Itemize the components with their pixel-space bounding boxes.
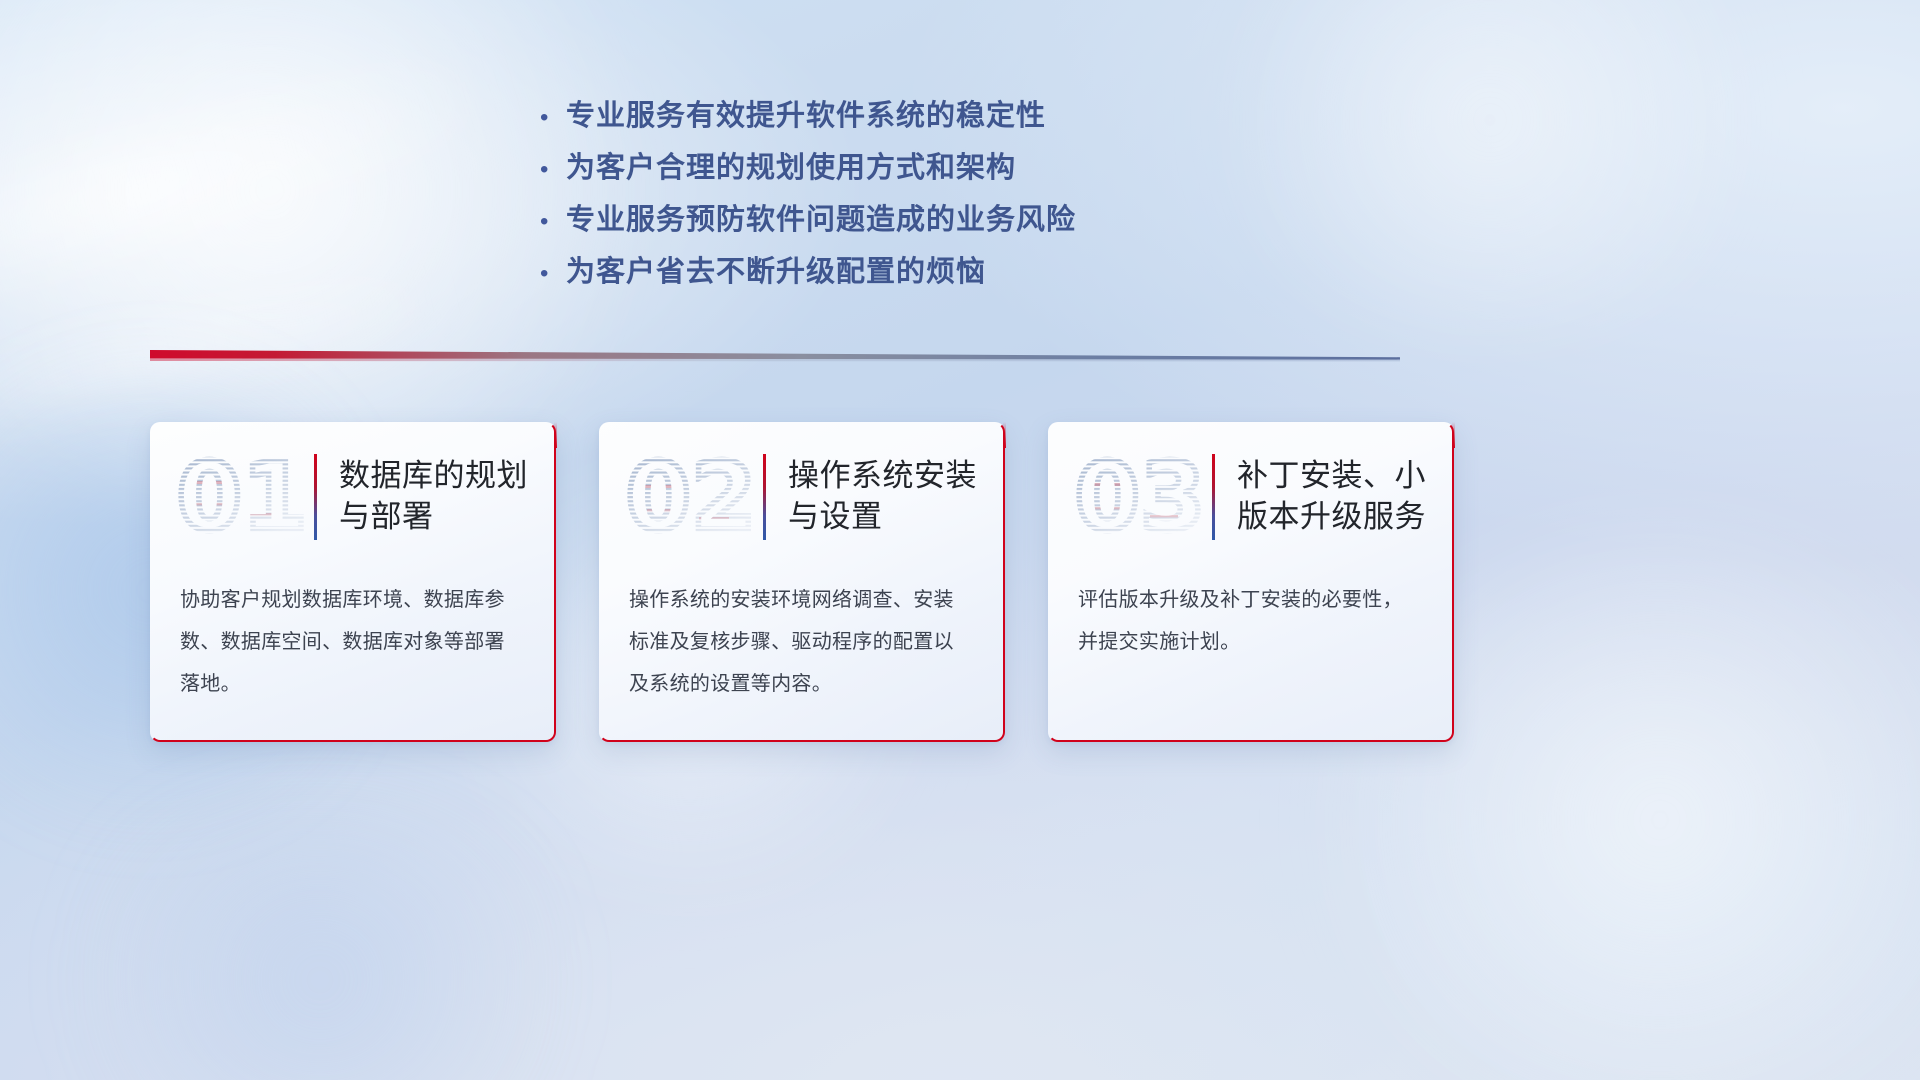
bullet-text: 专业服务预防软件问题造成的业务风险 bbox=[566, 196, 1076, 238]
card-title-line-1: 补丁安装、小 bbox=[1237, 456, 1426, 497]
card-number-watermark: 02 bbox=[627, 451, 755, 547]
card-title-divider bbox=[1212, 454, 1215, 540]
service-card[interactable]: 01 01 bbox=[150, 422, 556, 742]
card-header: 02 操作系统安装 与设置 bbox=[599, 422, 1005, 572]
bullet-marker-icon: • bbox=[540, 210, 566, 234]
card-description: 评估版本升级及补丁安装的必要性，并提交实施计划。 bbox=[1048, 572, 1454, 662]
bullet-marker-icon: • bbox=[540, 106, 566, 130]
background-glow-bottom-left bbox=[40, 820, 600, 1080]
service-card-list: 01 01 bbox=[150, 422, 1456, 742]
service-card[interactable]: 03 补丁安装、小 版本升级服务 bbox=[1048, 422, 1454, 742]
card-title-line-2: 版本升级服务 bbox=[1237, 497, 1426, 538]
benefits-bullet-list: • 专业服务有效提升软件系统的稳定性 • 为客户合理的规划使用方式和架构 • 专… bbox=[540, 92, 1440, 300]
card-title-line-2: 与设置 bbox=[788, 497, 977, 538]
list-item: • 为客户省去不断升级配置的烦恼 bbox=[540, 248, 1440, 300]
list-item: • 为客户合理的规划使用方式和架构 bbox=[540, 144, 1440, 196]
card-number-watermark: 03 bbox=[1076, 451, 1204, 547]
bullet-marker-icon: • bbox=[540, 158, 566, 182]
card-title-line-2: 与部署 bbox=[339, 497, 528, 538]
card-description: 协助客户规划数据库环境、数据库参数、数据库空间、数据库对象等部署落地。 bbox=[150, 572, 556, 704]
slide-canvas: • 专业服务有效提升软件系统的稳定性 • 为客户合理的规划使用方式和架构 • 专… bbox=[0, 0, 1920, 1080]
card-title-divider bbox=[314, 454, 317, 540]
service-card[interactable]: 02 操作系统安装 与设置 bbox=[599, 422, 1005, 742]
bullet-text: 为客户合理的规划使用方式和架构 bbox=[566, 144, 1016, 186]
card-description: 操作系统的安装环境网络调查、安装标准及复核步骤、驱动程序的配置以及系统的设置等内… bbox=[599, 572, 1005, 704]
section-divider bbox=[150, 348, 1400, 366]
card-header: 01 01 bbox=[150, 422, 556, 572]
background-light-streak-upper bbox=[0, 55, 496, 315]
card-title-divider bbox=[763, 454, 766, 540]
card-number-watermark: 01 01 bbox=[178, 451, 306, 547]
list-item: • 专业服务预防软件问题造成的业务风险 bbox=[540, 196, 1440, 248]
bullet-text: 专业服务有效提升软件系统的稳定性 bbox=[566, 92, 1046, 134]
card-title-line-1: 数据库的规划 bbox=[339, 456, 528, 497]
card-title-line-1: 操作系统安装 bbox=[788, 456, 977, 497]
bullet-text: 为客户省去不断升级配置的烦恼 bbox=[566, 248, 986, 290]
bullet-marker-icon: • bbox=[540, 262, 566, 286]
card-title: 操作系统安装 与设置 bbox=[788, 456, 977, 538]
card-title: 补丁安装、小 版本升级服务 bbox=[1237, 456, 1426, 538]
card-header: 03 补丁安装、小 版本升级服务 bbox=[1048, 422, 1454, 572]
list-item: • 专业服务有效提升软件系统的稳定性 bbox=[540, 92, 1440, 144]
card-title: 数据库的规划 与部署 bbox=[339, 456, 528, 538]
